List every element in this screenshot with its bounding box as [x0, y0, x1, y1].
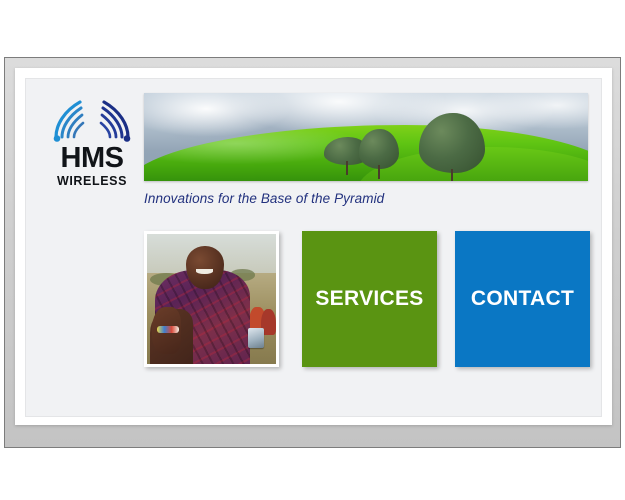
tree-trunk	[378, 165, 380, 179]
site-header: HMS WIRELESS	[26, 79, 601, 189]
tree-trunk	[451, 169, 453, 181]
tree-trunk	[346, 161, 348, 175]
tree-crown	[419, 113, 485, 173]
tile-services-button[interactable]: SERVICES	[302, 231, 437, 367]
tile-portrait-image	[144, 231, 279, 367]
tree-crown	[359, 129, 399, 169]
brand-logo[interactable]: HMS WIRELESS	[48, 99, 136, 191]
brand-name-primary: HMS	[48, 144, 136, 173]
banner-tree	[419, 113, 485, 173]
site-tagline: Innovations for the Base of the Pyramid	[144, 191, 384, 206]
banner-image	[144, 93, 588, 181]
portrait-photo	[147, 234, 276, 364]
brand-name-secondary: WIRELESS	[48, 174, 136, 188]
tile-contact-label: CONTACT	[455, 287, 590, 311]
tile-services-label: SERVICES	[302, 287, 437, 311]
wireless-signal-arcs-icon	[50, 99, 134, 143]
portrait-beaded-bracelet	[157, 326, 179, 333]
window-frame: HMS WIRELESS	[4, 57, 621, 448]
portrait-head	[186, 246, 225, 289]
banner-tree	[359, 129, 399, 169]
portrait-mobile-phone	[248, 328, 265, 349]
content-panel: HMS WIRELESS	[25, 78, 602, 417]
tile-contact-button[interactable]: CONTACT	[455, 231, 590, 367]
tiles-row: SERVICES CONTACT	[144, 231, 604, 371]
page-sheet: HMS WIRELESS	[15, 68, 612, 425]
screenshot-viewport: HMS WIRELESS	[0, 0, 625, 500]
